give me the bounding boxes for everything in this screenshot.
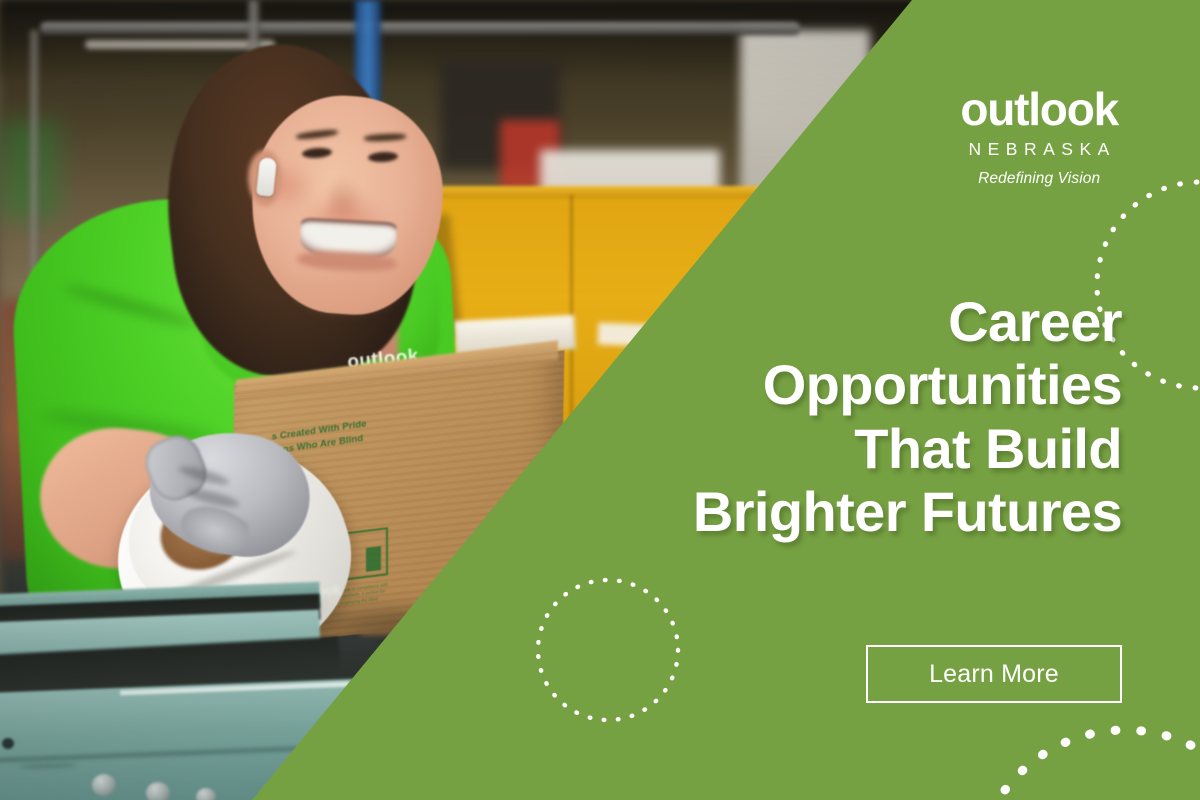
logo-state: NEBRASKA (960, 141, 1118, 159)
ceiling-pipe (40, 22, 800, 35)
yellow-bin-lip (398, 186, 812, 198)
dotted-arc-bottom-right-decoration (965, 720, 1200, 800)
dotted-circle-decoration (518, 560, 698, 740)
headline-line-3: That Build (482, 417, 1122, 481)
learn-more-button[interactable]: Learn More (866, 645, 1122, 703)
ceiling-pipe-secondary (85, 40, 275, 49)
logo-wordmark: outlook (960, 88, 1118, 132)
worker-nose (328, 176, 364, 216)
worker-chin (292, 268, 402, 316)
conveyor-bolt (196, 788, 216, 800)
headline-line-4: Brighter Futures (482, 480, 1122, 544)
conveyor-bolt (92, 774, 116, 796)
career-opportunities-banner: outlook NEBRASKA Redefining Vision s Cre… (0, 0, 1200, 800)
outlook-nebraska-logo[interactable]: outlook NEBRASKA Redefining Vision (960, 88, 1118, 187)
conveyor-bolt (146, 782, 170, 800)
logo-tagline: Redefining Vision (960, 171, 1118, 187)
conveyor-bolt-hole (2, 738, 14, 749)
